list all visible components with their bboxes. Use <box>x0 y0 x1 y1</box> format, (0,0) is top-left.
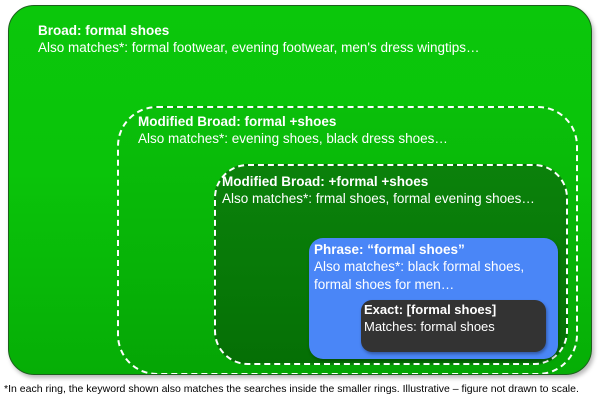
ring-phrase-label: Phrase: “formal shoes” Also matches*: bl… <box>314 241 542 293</box>
ring-modified-broad-1-subtitle: Also matches*: evening shoes, black dres… <box>138 130 448 147</box>
keyword-match-types-diagram: Broad: formal shoes Also matches*: forma… <box>0 0 600 404</box>
ring-exact-subtitle: Matches: formal shoes <box>364 319 496 336</box>
ring-modified-broad-2-label: Modified Broad: +formal +shoes Also matc… <box>222 173 535 208</box>
ring-exact-label: Exact: [formal shoes] Matches: formal sh… <box>364 302 496 335</box>
ring-modified-broad-1-title: Modified Broad: formal +shoes <box>138 113 448 130</box>
ring-modified-broad-2-title: Modified Broad: +formal +shoes <box>222 173 535 190</box>
ring-modified-broad-2-subtitle: Also matches*: frmal shoes, formal eveni… <box>222 190 535 207</box>
ring-broad-subtitle: Also matches*: formal footwear, evening … <box>38 39 480 56</box>
ring-phrase-title: Phrase: “formal shoes” <box>314 241 542 258</box>
ring-broad-label: Broad: formal shoes Also matches*: forma… <box>38 22 480 57</box>
ring-exact-title: Exact: [formal shoes] <box>364 302 496 319</box>
ring-modified-broad-1-label: Modified Broad: formal +shoes Also match… <box>138 113 448 148</box>
ring-phrase-subtitle: Also matches*: black formal shoes, forma… <box>314 258 542 293</box>
footnote: *In each ring, the keyword shown also ma… <box>4 383 598 396</box>
ring-broad-title: Broad: formal shoes <box>38 22 480 39</box>
